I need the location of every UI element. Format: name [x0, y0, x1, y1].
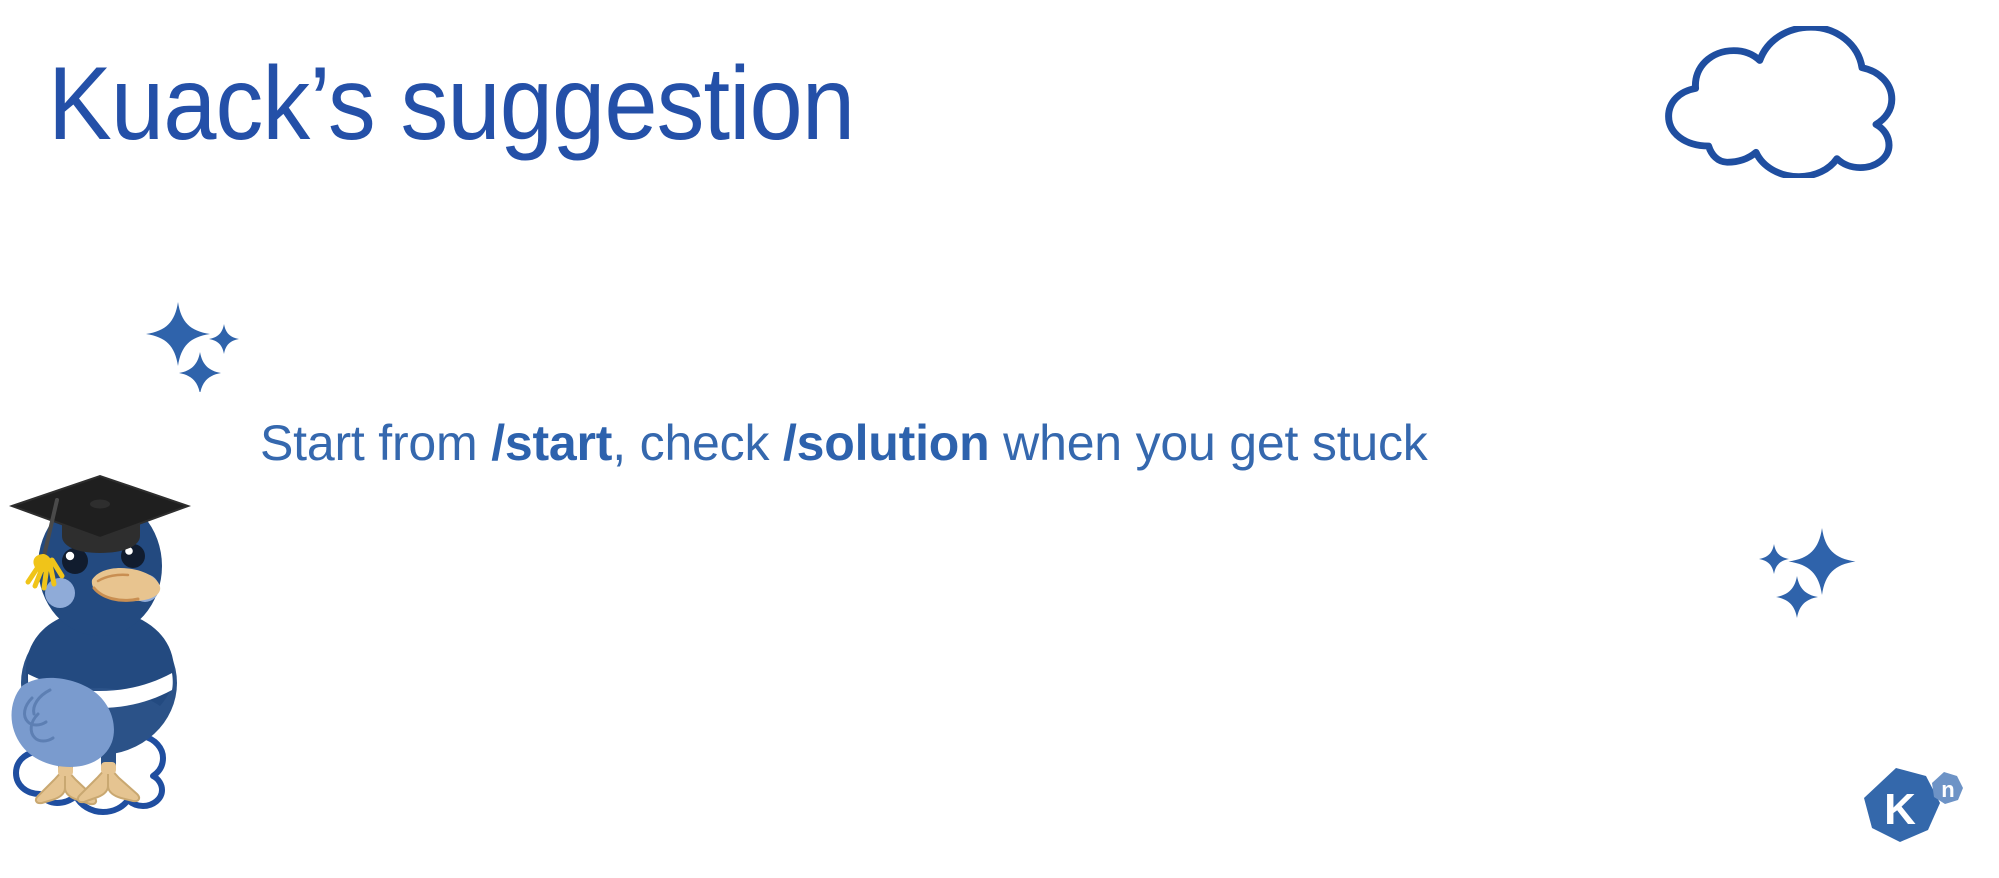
duck-graduate-mascot — [2, 458, 218, 858]
kuack-brand-logo[interactable]: K n — [1856, 762, 1968, 858]
cloud-outline-icon — [1664, 26, 1898, 178]
logo-letter-k: K — [1884, 785, 1916, 834]
sparkles-icon — [146, 300, 246, 392]
command-start: /start — [491, 415, 612, 471]
logo-letter-n: n — [1941, 777, 1954, 802]
slide-canvas: Kuack’s suggestion Start from /start, ch… — [0, 0, 1999, 878]
body-text-middle: , check — [612, 415, 783, 471]
body-text-prefix: Start from — [260, 415, 491, 471]
body-text-suffix: when you get stuck — [989, 415, 1427, 471]
body-text: Start from /start, check /solution when … — [260, 415, 1428, 473]
command-solution: /solution — [783, 415, 990, 471]
sparkles-icon — [1752, 522, 1856, 618]
page-title: Kuack’s suggestion — [48, 48, 854, 160]
